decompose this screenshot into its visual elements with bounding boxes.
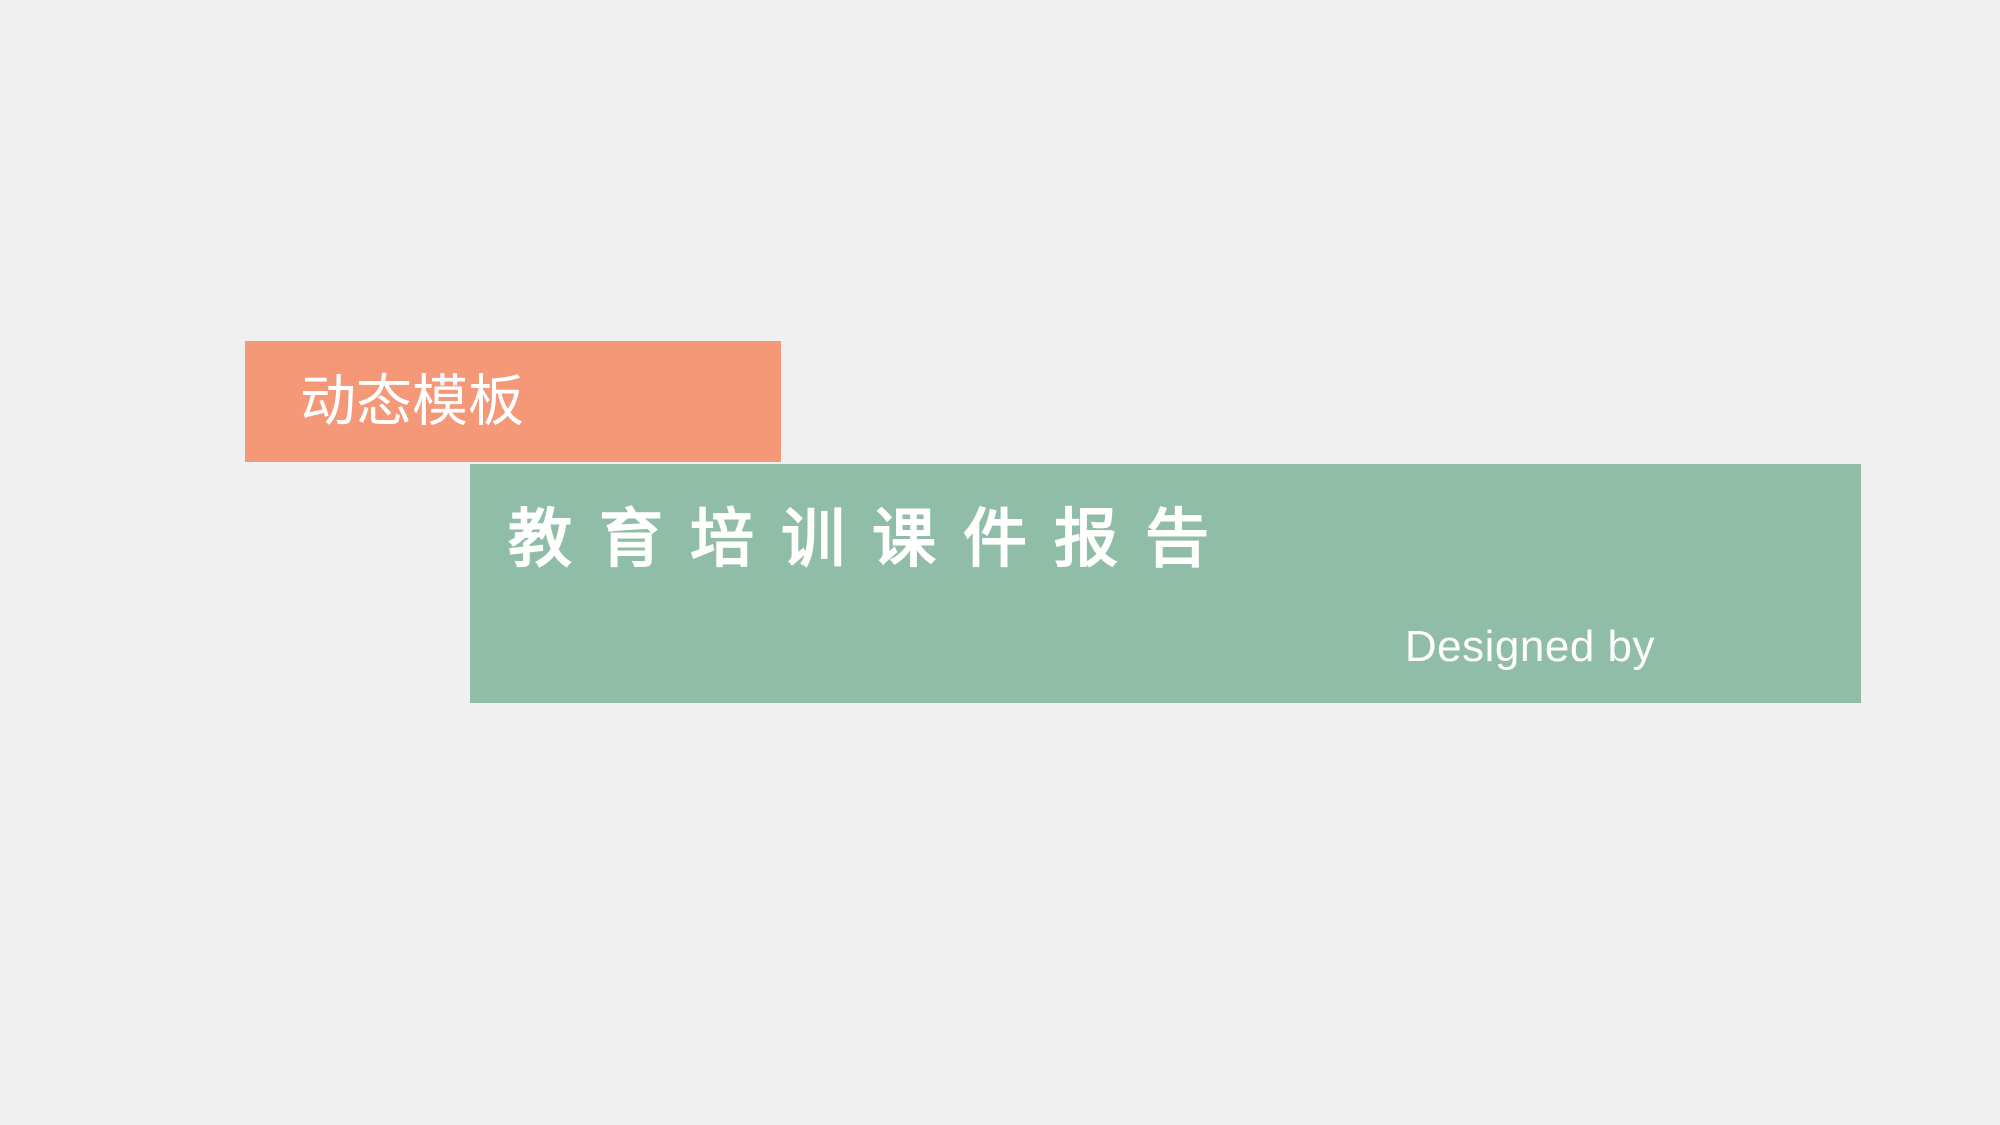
- slide-canvas: 动态模板 教育培训课件报告 Designed by: [0, 0, 2000, 1125]
- page-title: 教育培训课件报告: [508, 506, 1236, 573]
- subtitle-text: 动态模板: [300, 372, 524, 431]
- designed-by-credit: Designed by: [1405, 623, 1655, 671]
- title-banner: 教育培训课件报告 Designed by: [470, 464, 1861, 703]
- subtitle-banner: 动态模板: [245, 341, 781, 462]
